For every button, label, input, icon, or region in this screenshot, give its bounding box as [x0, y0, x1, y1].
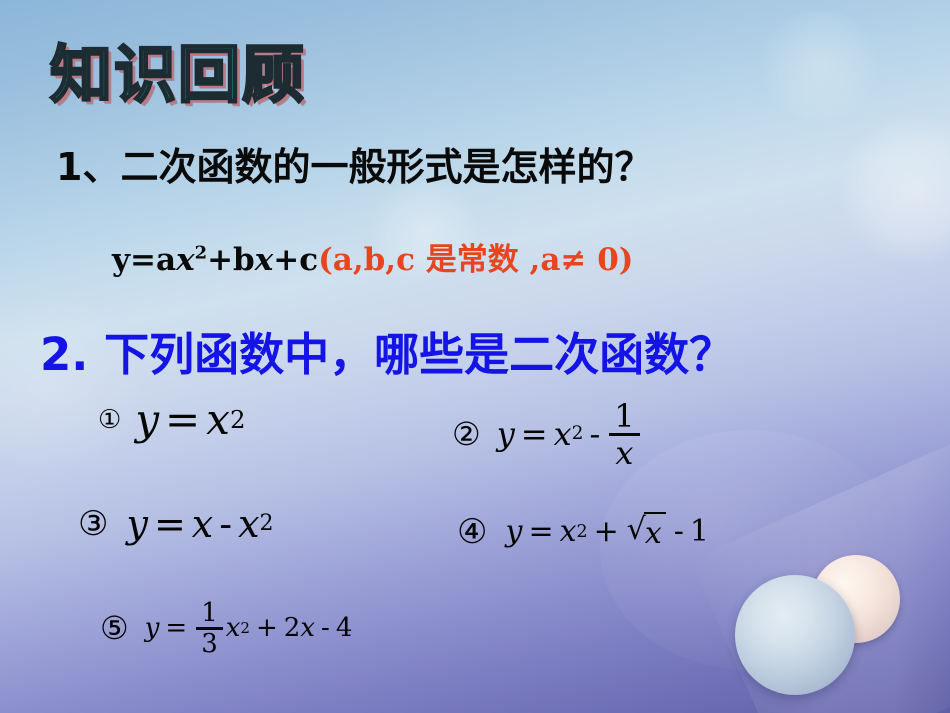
constant-4: 1: [690, 514, 709, 549]
math-item-2: ② y = x2 - 1 x: [452, 400, 643, 469]
formula-power-1: 2: [195, 243, 208, 264]
operator-minus-4: -: [674, 514, 684, 549]
var-y-5: y: [145, 613, 160, 643]
marker-circled-4: ④: [457, 515, 487, 549]
question-2-text: 2. 下列函数中，哪些是二次函数？: [40, 318, 734, 383]
var-x-4: x: [560, 514, 577, 549]
math-item-5: ⑤ y = 1 3 x2 + 2x - 4: [100, 600, 352, 657]
formula-red-condition: (a,b,c 是常数 ,a≠ 0): [318, 242, 633, 278]
var-y-4: y: [505, 514, 522, 549]
slide-canvas: 知识回顾 1、二次函数的一般形式是怎样的？ y=ax2+bx+c(a,b,c 是…: [0, 0, 950, 713]
var-y-2: y: [497, 415, 515, 453]
math-item-4: ④ y = x2 + √ x - 1: [457, 512, 709, 551]
var-y-3: y: [126, 502, 147, 546]
operator-minus-2: -: [589, 415, 600, 453]
question-1-text: 1、二次函数的一般形式是怎样的？: [56, 136, 652, 191]
marker-circled-3: ③: [78, 507, 108, 541]
var-x-3b: x: [238, 502, 259, 546]
equals-2: =: [521, 415, 548, 453]
equals-1: =: [165, 395, 200, 444]
formula-var-x-2: x: [255, 242, 273, 278]
math-item-1: ① y = x2: [98, 395, 245, 444]
slide-title: 知识回顾: [50, 44, 306, 106]
formula-black-3: +c: [273, 242, 318, 278]
formula-var-x-1: x: [176, 242, 194, 278]
expression-5: y = 1 3 x2 + 2x - 4: [145, 600, 353, 657]
fraction-5: 1 3: [196, 600, 223, 657]
equals-4: =: [528, 514, 553, 549]
fraction-2: 1 x: [609, 400, 639, 469]
question-1-formula: y=ax2+bx+c(a,b,c 是常数 ,a≠ 0): [112, 234, 633, 279]
background-glow-top-right: [840, 115, 950, 265]
var-x-1: x: [206, 395, 230, 444]
operator-plus-5: +: [256, 613, 278, 643]
operator-minus-5: -: [321, 613, 330, 643]
formula-black-1: y=a: [112, 242, 176, 278]
fraction-numerator-2: 1: [609, 400, 639, 433]
math-item-3: ③ y = x - x2: [78, 502, 274, 546]
equals-3: =: [154, 502, 186, 546]
fraction-numerator-5: 1: [196, 600, 223, 627]
marker-circled-1: ①: [98, 407, 121, 433]
expression-3: y = x - x2: [126, 502, 273, 546]
decorative-sphere-large: [735, 575, 855, 695]
formula-black-2: +b: [207, 242, 255, 278]
marker-circled-5: ⑤: [100, 612, 129, 644]
var-y-1: y: [135, 395, 159, 444]
background-glow-top-right-small: [760, 10, 880, 120]
background-diagonal-band: [690, 389, 950, 713]
constant-5: 4: [336, 613, 353, 643]
expression-4: y = x2 + √ x - 1: [505, 512, 709, 551]
operator-plus-4: +: [594, 514, 619, 549]
coefficient-5: 2: [284, 613, 301, 643]
equals-5: =: [165, 613, 187, 643]
var-x-2: x: [554, 415, 572, 453]
fraction-denominator-5: 3: [196, 630, 223, 657]
var-x-3a: x: [192, 502, 213, 546]
operator-minus-3: -: [219, 502, 232, 546]
var-x-5a: x: [226, 613, 241, 643]
square-root-4: √ x: [627, 512, 666, 551]
fraction-denominator-2: x: [610, 436, 638, 469]
radicand-4: x: [644, 512, 666, 551]
decorative-sphere-small: [812, 555, 900, 643]
expression-2: y = x2 - 1 x: [497, 400, 643, 469]
expression-1: y = x2: [135, 395, 245, 444]
var-x-5b: x: [300, 613, 315, 643]
marker-circled-2: ②: [452, 418, 481, 450]
